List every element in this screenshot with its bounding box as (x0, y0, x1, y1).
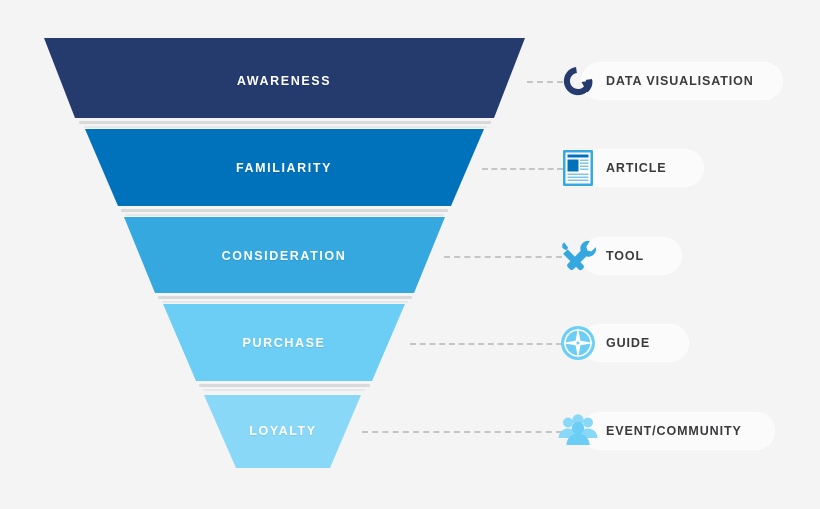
funnel-divider (162, 301, 408, 303)
funnel-divider (203, 389, 365, 391)
funnel-divider (158, 296, 412, 299)
legend-item-article[interactable]: ARTICLE (556, 149, 666, 187)
funnel-divider (84, 126, 487, 128)
tool-icon (556, 236, 600, 276)
compass-icon (556, 323, 600, 363)
funnel-label-awareness: AWARENESS (237, 74, 331, 88)
article-icon (556, 148, 600, 188)
legend-item-data-visualisation[interactable]: DATA VISUALISATION (556, 62, 754, 100)
funnel-label-purchase: PURCHASE (243, 336, 326, 350)
funnel-connector-line (482, 168, 563, 170)
funnel-connector-line (410, 343, 562, 345)
legend-label-event-community: EVENT/COMMUNITY (606, 424, 742, 438)
funnel-divider (125, 214, 444, 216)
legend-item-tool[interactable]: TOOL (556, 237, 644, 275)
funnel-label-consideration: CONSIDERATION (222, 249, 347, 263)
legend-item-guide[interactable]: GUIDE (556, 324, 650, 362)
legend-item-event-community[interactable]: EVENT/COMMUNITY (556, 412, 742, 450)
funnel-label-loyalty: LOYALTY (249, 424, 316, 438)
funnel-label-familiarity: FAMILIARITY (236, 161, 332, 175)
donut-chart-icon (556, 61, 600, 101)
funnel-connector-line (444, 256, 562, 258)
people-group-icon (556, 411, 600, 451)
funnel-divider (199, 384, 370, 387)
funnel-diagram-canvas: AWARENESS FAMILIARITY CONSIDERATION PURC… (0, 0, 820, 509)
funnel-divider (121, 209, 448, 212)
legend-label-article: ARTICLE (606, 161, 666, 175)
funnel-connector-line (362, 431, 562, 433)
funnel-divider (79, 121, 491, 124)
legend-label-tool: TOOL (606, 249, 644, 263)
legend-label-guide: GUIDE (606, 336, 650, 350)
legend-label-data-visualisation: DATA VISUALISATION (606, 74, 754, 88)
